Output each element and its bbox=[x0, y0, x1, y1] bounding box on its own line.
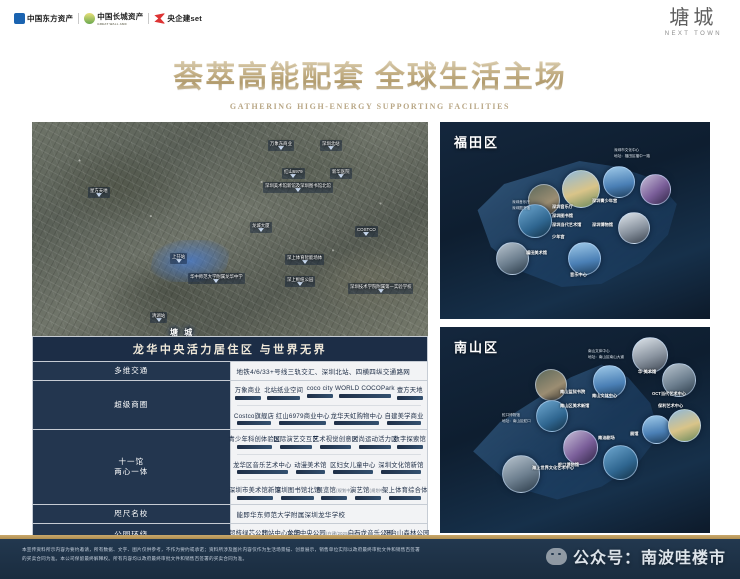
district-poi-node[interactable] bbox=[632, 337, 668, 373]
aerial-poi-label: 深圳北站 bbox=[322, 141, 340, 146]
page-subtitle: GATHERING HIGH-ENERGY SUPPORTING FACILIT… bbox=[0, 102, 740, 111]
table-row: 超级商圈万象商业北站纸业空间coco cityWORLD COCOPark壹方天… bbox=[33, 381, 428, 430]
map-pin-icon bbox=[363, 232, 369, 236]
facility-name: WORLD COCOPark bbox=[335, 385, 395, 392]
district-poi-label: 深圳青少年宫 bbox=[592, 198, 617, 204]
yangqi-logo-icon bbox=[154, 13, 165, 24]
map-pin-icon bbox=[290, 174, 296, 178]
aerial-poi-label: 华中师范大学附属龙华中学 bbox=[190, 274, 243, 279]
aerial-poi-label: 星方天地 bbox=[90, 188, 108, 193]
district-poi-label: 南山监狱书院 bbox=[560, 389, 585, 395]
wechat-icon bbox=[546, 548, 567, 565]
facility-item[interactable]: 深圳文化馆新馆 bbox=[381, 460, 421, 475]
facility-item[interactable]: 青少年科创体验区 bbox=[237, 434, 273, 449]
district-poi-label: 保利艺术中心 bbox=[658, 403, 683, 409]
aerial-poi-marker: 深圳美术馆新馆及深圳图书馆北馆 bbox=[263, 182, 333, 193]
aerial-poi-marker: 新华医院 bbox=[330, 168, 352, 179]
facility-name: 自建美学商业 bbox=[385, 411, 424, 420]
district-map-nanshan: 南山区 南山监狱书院南山文体中心华·美术馆OCT当代艺术中心南山区美术新馆蛇口博… bbox=[440, 327, 710, 533]
facility-item[interactable]: 龙华天虹购物中心 bbox=[334, 411, 379, 426]
aerial-poi-marker: COSTCO bbox=[355, 226, 378, 237]
brand-name-cn: 塘城 bbox=[665, 8, 722, 29]
page-header: 中国东方资产 中国长城资产 GREAT WALL AMC 央企建set 塘城 N… bbox=[0, 0, 740, 46]
facility-item[interactable]: 龙华区音乐艺术中心 bbox=[237, 460, 289, 475]
map-pin-icon bbox=[302, 260, 308, 264]
disclaimer-text: 本宣传资料所示内容为要约邀请，所有数据、文字、图片仅供参考，不作为要约或承诺；资… bbox=[22, 546, 422, 563]
facility-bar bbox=[387, 421, 421, 425]
map-pin-icon bbox=[258, 228, 264, 232]
aerial-photo-map: 万象东商业深圳北站红山6979新华医院深圳美术馆新馆及深圳图书馆北馆星方天地龙城… bbox=[32, 122, 428, 336]
table-row: 咫尺名校能即华东师范大学附属深圳龙华学校 bbox=[33, 504, 428, 523]
facility-name: 壹方天地 bbox=[397, 385, 423, 394]
facility-name: 万象商业 bbox=[235, 385, 261, 394]
facility-item[interactable]: 深圳市美术馆新馆 bbox=[237, 485, 274, 500]
facility-bar bbox=[339, 394, 391, 398]
watermark: 公众号：南波哇楼市 bbox=[546, 544, 726, 568]
map-pin-icon bbox=[338, 174, 344, 178]
logo-label-cn: 中国长城资产 bbox=[97, 12, 143, 21]
facility-bar bbox=[381, 470, 421, 474]
page-title-block: 荟萃高能配套 全球生活主场 GATHERING HIGH-ENERGY SUPP… bbox=[0, 52, 740, 111]
facility-name: coco city bbox=[307, 385, 333, 392]
district-poi-label: 音乐中心 bbox=[570, 272, 587, 278]
facility-bar bbox=[389, 496, 421, 500]
facility-bar bbox=[296, 470, 325, 474]
table-cell-text: 地铁4/6/33+号线三轨交汇、深圳北站、四横四纵交通路网 bbox=[237, 366, 422, 376]
facility-item[interactable]: WORLD COCOPark bbox=[339, 385, 391, 398]
logo-label: 中国东方资产 bbox=[27, 13, 73, 24]
logo-changcheng: 中国长城资产 GREAT WALL AMC bbox=[84, 11, 143, 26]
facility-name: 红山6979商业中心 bbox=[276, 411, 330, 420]
logo-divider bbox=[148, 13, 149, 24]
district-poi-node[interactable] bbox=[563, 430, 598, 465]
aerial-poi-label: COSTCO bbox=[357, 227, 376, 232]
facility-item[interactable]: 红山6979商业中心 bbox=[279, 411, 326, 426]
map-pin-icon bbox=[96, 193, 102, 197]
table-header-row: 龙华中央活力居住区 与世界无界 bbox=[33, 337, 428, 362]
map-pin-icon bbox=[378, 289, 384, 293]
district-note: 地址：福田区福中一路 bbox=[614, 154, 650, 159]
district-poi-node[interactable] bbox=[618, 212, 650, 244]
aerial-poi-marker: 清湖站 bbox=[150, 312, 167, 323]
aerial-poi-marker: 华中师范大学附属龙华中学 bbox=[188, 273, 245, 284]
watermark-label: 公众号：南波哇楼市 bbox=[573, 544, 726, 568]
facility-bar bbox=[321, 496, 347, 500]
aerial-poi-label: 新华医院 bbox=[332, 169, 350, 174]
facility-name: Costco旗舰店 bbox=[234, 411, 274, 420]
table-cell-group: Costco旗舰店红山6979商业中心龙华天虹购物中心自建美学商业 bbox=[237, 405, 422, 426]
table-cell-text: 能即华东师范大学附属深圳龙华学校 bbox=[237, 509, 422, 519]
facility-bar bbox=[237, 496, 274, 500]
aerial-poi-marker: 深上枢纽公园 bbox=[285, 276, 315, 287]
facilities-table: 龙华中央活力居住区 与世界无界 多维交通地铁4/6/33+号线三轨交汇、深圳北站… bbox=[32, 336, 428, 547]
aerial-poi-label: 深圳技术学院附属第一实验学校 bbox=[350, 284, 411, 289]
table-header-title: 龙华中央活力居住区 与世界无界 bbox=[33, 337, 428, 362]
map-pin-icon bbox=[297, 282, 303, 286]
facility-name: 区妇女儿童中心 bbox=[330, 460, 375, 469]
facility-item[interactable]: 北站纸业空间 bbox=[267, 385, 301, 400]
district-poi-label: 展馆 bbox=[630, 431, 638, 437]
facility-bar bbox=[237, 470, 289, 474]
district-poi-node[interactable] bbox=[603, 445, 638, 480]
district-poi-node[interactable] bbox=[668, 409, 701, 442]
logo-dongfang: 中国东方资产 bbox=[14, 13, 73, 24]
district-poi-label: 深圳图书馆 bbox=[552, 213, 573, 219]
facility-bar bbox=[397, 396, 423, 400]
facility-name: 深圳文化馆新馆 bbox=[378, 460, 423, 469]
aerial-poi-marker: 深圳技术学院附属第一实验学校 bbox=[348, 283, 413, 294]
district-poi-label: 南山文体中心 bbox=[592, 393, 617, 399]
district-poi-node[interactable] bbox=[640, 174, 671, 205]
facility-item[interactable]: coco city bbox=[308, 385, 331, 398]
facility-item[interactable]: 动漫美术馆 bbox=[296, 460, 325, 475]
facility-name: 深圳市美术馆新馆 bbox=[229, 485, 281, 494]
district-poi-node[interactable] bbox=[535, 369, 567, 401]
aerial-poi-marker: 深圳北站 bbox=[320, 140, 342, 151]
table-cell-group: 万象商业北站纸业空间coco cityWORLD COCOPark壹方天地 bbox=[237, 385, 422, 400]
facility-bar bbox=[280, 445, 311, 449]
logo-yangqi: 央企建set bbox=[154, 13, 202, 24]
map-pin-icon bbox=[213, 279, 219, 283]
facility-item[interactable]: 区妇女儿童中心 bbox=[333, 460, 373, 475]
right-column: 福田区 深圳音乐厅深圳图书馆深圳青少年宫深圳当代艺术馆深圳博物馆少年宫福田美术馆… bbox=[440, 122, 710, 533]
district-note: 地址：南山区蛇口 bbox=[502, 419, 531, 424]
facility-item[interactable]: 艺术视觉创意区 bbox=[320, 434, 351, 449]
table-row-label: 超级商圈 bbox=[33, 381, 231, 430]
district-poi-node[interactable] bbox=[496, 242, 529, 275]
facility-item[interactable]: 演艺馆(规划中) bbox=[355, 485, 380, 500]
facility-bar bbox=[237, 421, 272, 425]
page-title: 荟萃高能配套 全球生活主场 bbox=[0, 52, 740, 96]
facility-bar bbox=[397, 445, 423, 449]
facility-bar bbox=[267, 396, 301, 400]
page-footer: 本宣传资料所示内容为要约邀请，所有数据、文字、图片仅供参考，不作为要约或承诺；资… bbox=[0, 535, 740, 579]
aerial-poi-marker: 星方天地 bbox=[88, 187, 110, 198]
aerial-poi-label: 清湖站 bbox=[152, 313, 165, 318]
logo-label: 中国长城资产 GREAT WALL AMC bbox=[97, 11, 143, 26]
aerial-poi-label: 万象东商业 bbox=[270, 141, 292, 146]
district-poi-node[interactable] bbox=[568, 242, 601, 275]
district-poi-label: 福田美术馆 bbox=[526, 250, 547, 256]
facility-item[interactable]: 自建美学商业 bbox=[387, 411, 421, 426]
left-column: 万象东商业深圳北站红山6979新华医院深圳美术馆新馆及深圳图书馆北馆星方天地龙城… bbox=[32, 122, 428, 547]
partner-logo-strip: 中国东方资产 中国长城资产 GREAT WALL AMC 央企建set bbox=[14, 11, 202, 26]
facility-name: 动漫美术馆 bbox=[294, 460, 326, 469]
table-cell-group: 青少年科创体验区国际演艺交互区艺术视觉创意区时尚运动活力区数字探索馆 bbox=[237, 434, 422, 449]
district-note: 深圳市文化中心 bbox=[614, 148, 639, 153]
facility-bar bbox=[237, 445, 273, 449]
facility-name: 演艺馆(规划中) bbox=[350, 485, 386, 494]
facility-item[interactable]: 架上体育综合体 bbox=[389, 485, 421, 500]
logo-divider bbox=[78, 13, 79, 24]
table-cell-group: 深圳市美术馆新馆深圳图书馆北馆展览馆(规划中)演艺馆(规划中)架上体育综合体 bbox=[237, 479, 422, 500]
district-poi-label: 南油剧场 bbox=[598, 435, 615, 441]
facility-item[interactable]: Costco旗舰店 bbox=[237, 411, 272, 426]
district-note: 地址：南山区南山大道 bbox=[588, 355, 624, 360]
district-note: 深圳图书馆 bbox=[512, 206, 530, 211]
map-pin-icon bbox=[156, 318, 162, 322]
district-map-futian: 福田区 深圳音乐厅深圳图书馆深圳青少年宫深圳当代艺术馆深圳博物馆少年宫福田美术馆… bbox=[440, 122, 710, 319]
changcheng-logo-icon bbox=[84, 13, 95, 24]
facility-item[interactable]: 万象商业 bbox=[237, 385, 259, 400]
facility-bar bbox=[235, 396, 261, 400]
facility-name: 数字探索馆 bbox=[394, 434, 426, 443]
table-row-content: 万象商业北站纸业空间coco cityWORLD COCOPark壹方天地Cos… bbox=[230, 381, 428, 430]
table-row: 多维交通地铁4/6/33+号线三轨交汇、深圳北站、四横四纵交通路网 bbox=[33, 362, 428, 381]
district-poi-label: 海上世界文化艺术中心 bbox=[532, 465, 574, 471]
table-row-content: 地铁4/6/33+号线三轨交汇、深圳北站、四横四纵交通路网 bbox=[230, 362, 428, 381]
table-row: 十一馆两心一体青少年科创体验区国际演艺交互区艺术视觉创意区时尚运动活力区数字探索… bbox=[33, 430, 428, 505]
facility-name: 龙华区音乐艺术中心 bbox=[233, 460, 291, 469]
facility-item[interactable]: 展览馆(规划中) bbox=[322, 485, 347, 500]
aerial-poi-marker: 深上体育智能场体 bbox=[285, 254, 324, 265]
table-row-content: 青少年科创体验区国际演艺交互区艺术视觉创意区时尚运动活力区数字探索馆龙华区音乐艺… bbox=[230, 430, 428, 505]
aerial-poi-label: 深上枢纽公园 bbox=[287, 277, 313, 282]
facility-bar bbox=[355, 496, 381, 500]
facility-name: 时尚运动活力区 bbox=[352, 434, 397, 443]
district-title: 福田区 bbox=[454, 132, 499, 151]
district-poi-node[interactable] bbox=[603, 166, 635, 198]
logo-label: 央企建set bbox=[167, 13, 202, 24]
aerial-poi-marker: 红山6979 bbox=[282, 168, 305, 179]
aerial-poi-label: 上芬站 bbox=[172, 254, 185, 259]
map-pin-icon bbox=[176, 259, 182, 263]
facility-bar bbox=[279, 421, 326, 425]
table-cell-group: 龙华区音乐艺术中心动漫美术馆区妇女儿童中心深圳文化馆新馆 bbox=[237, 454, 422, 475]
facility-bar bbox=[307, 394, 333, 398]
facility-bar bbox=[320, 445, 351, 449]
table-row-content: 能即华东师范大学附属深圳龙华学校 bbox=[230, 504, 428, 523]
district-note: 深圳音乐厅 bbox=[512, 200, 530, 205]
aerial-poi-label: 龙城大厦 bbox=[252, 223, 270, 228]
map-pin-icon bbox=[295, 188, 301, 192]
district-poi-node[interactable] bbox=[642, 415, 671, 444]
aerial-poi-marker: 龙城大厦 bbox=[250, 222, 272, 233]
facility-name: 展览馆(规划中) bbox=[317, 485, 353, 494]
facility-bar bbox=[334, 421, 379, 425]
facility-item[interactable]: 数字探索馆 bbox=[399, 434, 421, 449]
district-note: 蛇口博物馆 bbox=[502, 413, 520, 418]
table-row-label: 多维交通 bbox=[33, 362, 231, 381]
aerial-poi-label: 深上体育智能场体 bbox=[287, 255, 322, 260]
district-poi-label: OCT当代艺术中心 bbox=[652, 391, 686, 397]
facility-item[interactable]: 深圳图书馆北馆 bbox=[281, 485, 313, 500]
dongfang-logo-icon bbox=[14, 13, 25, 24]
district-poi-label: 少年宫 bbox=[552, 234, 565, 240]
facility-item[interactable]: 时尚运动活力区 bbox=[359, 434, 390, 449]
aerial-poi-marker: 万象东商业 bbox=[268, 140, 294, 151]
district-poi-label: 深圳音乐厅 bbox=[552, 204, 573, 210]
district-poi-node[interactable] bbox=[502, 455, 540, 493]
aerial-poi-label: 深圳美术馆新馆及深圳图书馆北馆 bbox=[265, 183, 331, 188]
table-row-label: 咫尺名校 bbox=[33, 504, 231, 523]
map-pin-icon bbox=[278, 146, 284, 150]
district-title: 南山区 bbox=[454, 337, 499, 356]
aerial-poi-marker: 上芬站 bbox=[170, 253, 187, 264]
map-pin-icon bbox=[328, 146, 334, 150]
facility-bar bbox=[281, 496, 313, 500]
facility-name: 龙华天虹购物中心 bbox=[331, 411, 383, 420]
logo-label-en: GREAT WALL AMC bbox=[97, 22, 143, 26]
aerial-poi-label: 红山6979 bbox=[284, 169, 303, 174]
brand-name-en: NEXT TOWN bbox=[665, 31, 722, 37]
facility-item[interactable]: 国际演艺交互区 bbox=[280, 434, 311, 449]
district-poi-label: 深圳博物馆 bbox=[592, 222, 613, 228]
district-note: 南山文体中心 bbox=[588, 349, 610, 354]
facility-name: 北站纸业空间 bbox=[264, 385, 303, 394]
table-row-label: 十一馆两心一体 bbox=[33, 430, 231, 505]
facility-name: 深圳图书馆北馆 bbox=[275, 485, 320, 494]
facility-item[interactable]: 壹方天地 bbox=[399, 385, 421, 400]
facility-name: 架上体育综合体 bbox=[382, 485, 427, 494]
project-brand: 塘城 NEXT TOWN bbox=[665, 8, 722, 37]
district-poi-label: 深圳当代艺术馆 bbox=[552, 222, 581, 228]
district-poi-label: 南山区美术新馆 bbox=[560, 403, 589, 409]
district-poi-label: 华·美术馆 bbox=[638, 369, 656, 375]
facility-bar bbox=[359, 445, 390, 449]
facility-bar bbox=[333, 470, 373, 474]
site-marker-label: 塘 城 bbox=[170, 328, 194, 336]
